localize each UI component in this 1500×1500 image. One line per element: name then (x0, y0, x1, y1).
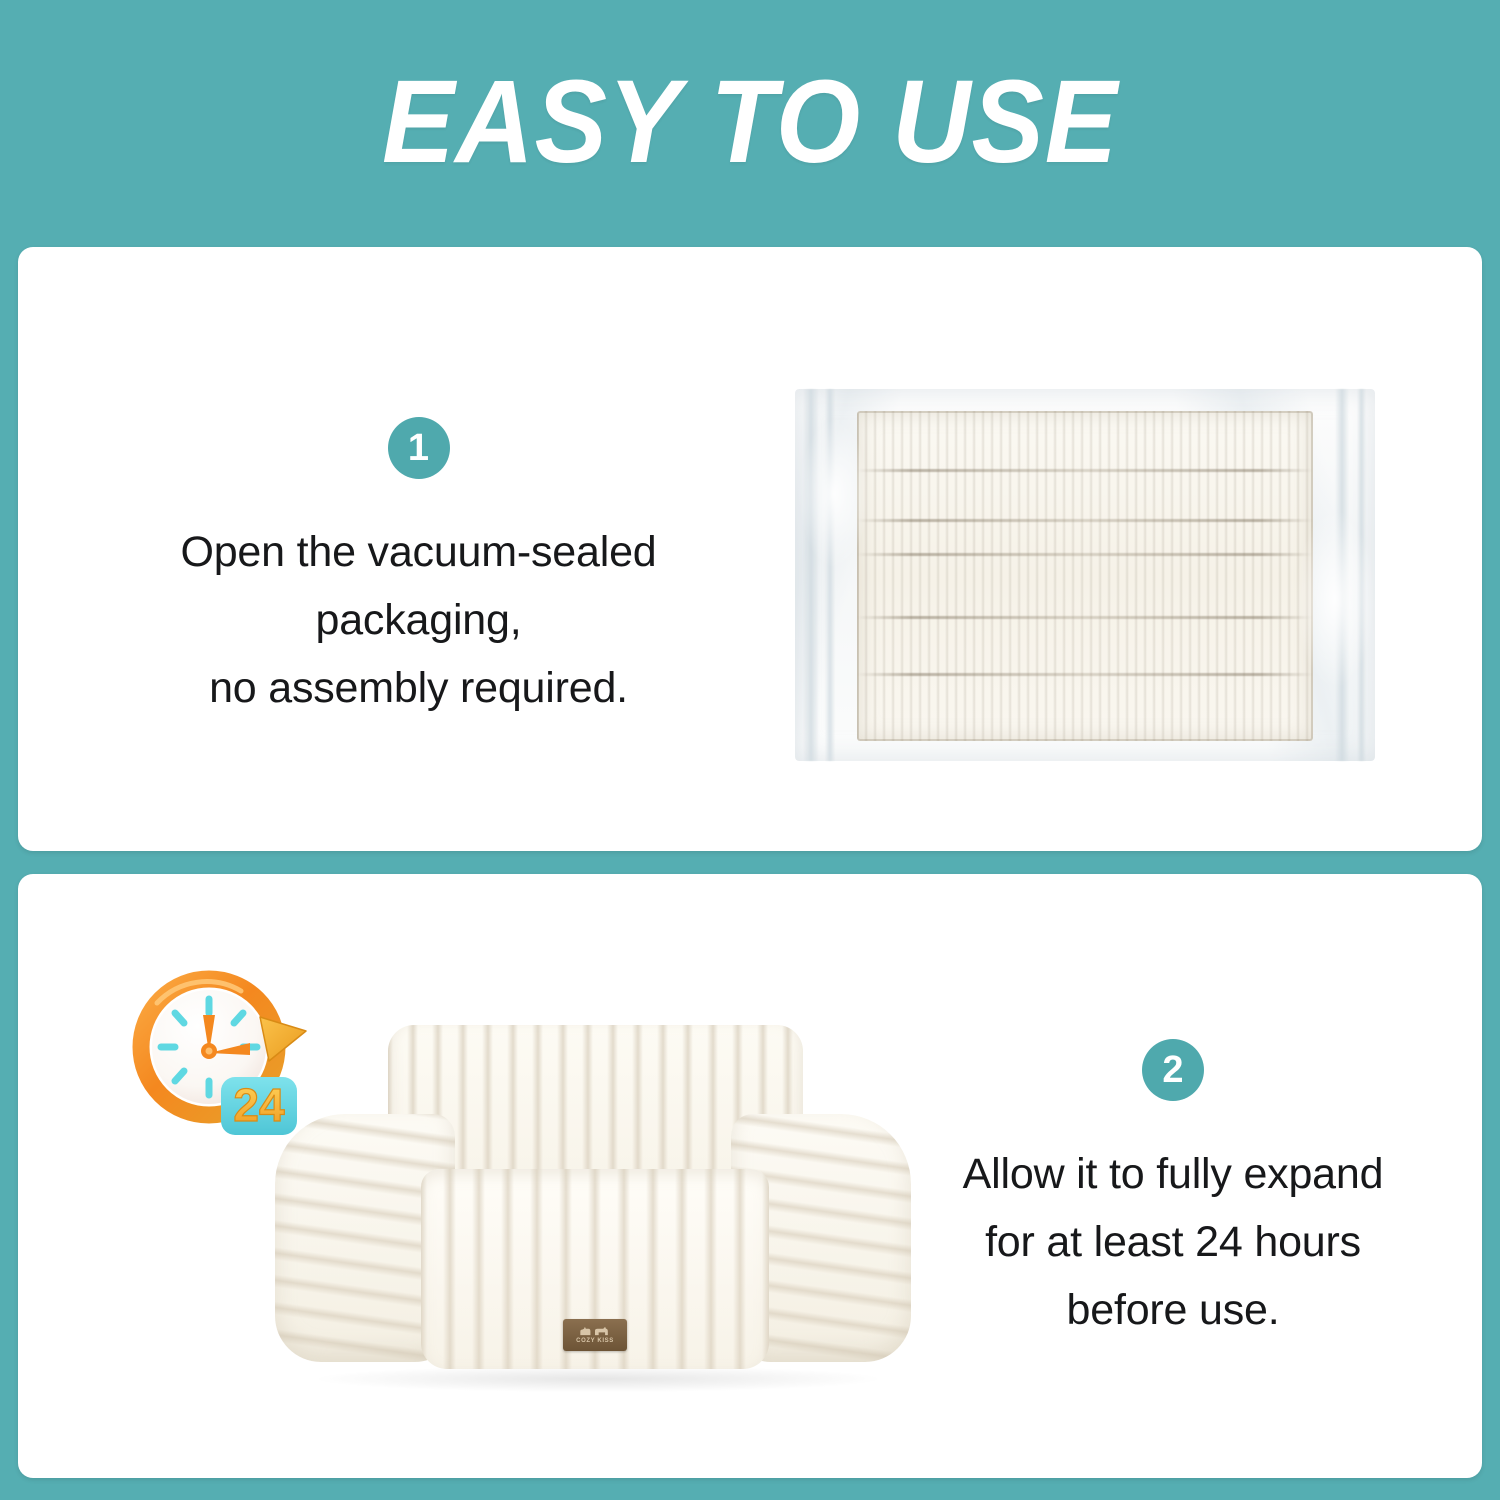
brand-tag-label: COZY KISS (576, 1338, 614, 1344)
easy-to-use-infographic: EASY TO USE 1 Open the vacuum-sealed pac… (0, 0, 1500, 1500)
cat-dog-silhouette-icon (576, 1326, 614, 1337)
expanded-pet-bed-photo: COZY KISS (273, 1019, 913, 1394)
step-number-badge-2: 2 (1142, 1039, 1204, 1101)
fabric-crease (857, 519, 1313, 522)
fabric-crease (857, 673, 1313, 676)
step-2-text-block: 2 Allow it to fully expand for at least … (903, 1039, 1443, 1345)
header-banner: EASY TO USE (0, 0, 1500, 243)
page-title: EASY TO USE (382, 63, 1118, 181)
brand-leather-tag: COZY KISS (563, 1319, 627, 1351)
bag-glare (799, 419, 869, 569)
step-number-badge-1: 1 (388, 417, 450, 479)
fabric-crease (857, 616, 1313, 619)
fabric-crease (857, 469, 1313, 472)
step-card-2: 24 COZY KISS (18, 874, 1482, 1478)
step-card-1: 1 Open the vacuum-sealed packaging, no a… (18, 247, 1482, 851)
bed-seat-cushion: COZY KISS (421, 1169, 769, 1369)
bag-glare (1295, 509, 1375, 689)
step-2-description: Allow it to fully expand for at least 24… (903, 1141, 1443, 1345)
compressed-bed-block (857, 411, 1313, 741)
step-1-description: Open the vacuum-sealed packaging, no ass… (106, 519, 731, 723)
bed-drop-shadow (318, 1366, 878, 1392)
fabric-crease (857, 553, 1313, 556)
vacuum-sealed-package-photo (795, 389, 1375, 761)
step-1-text-block: 1 Open the vacuum-sealed packaging, no a… (106, 417, 731, 723)
